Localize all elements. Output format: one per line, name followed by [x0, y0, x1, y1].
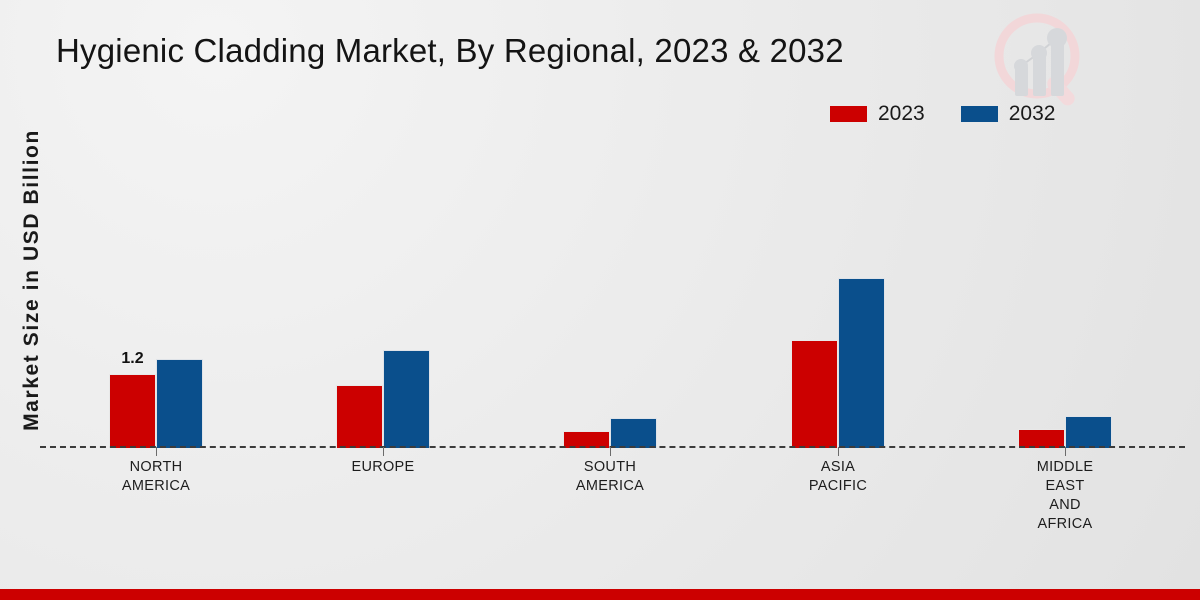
bar-group — [791, 122, 885, 448]
magnifier-bar-chart-logo-icon — [985, 8, 1105, 113]
x-axis-baseline — [40, 446, 1185, 448]
x-axis-label-line: ASIA — [738, 458, 938, 477]
bar-2032-europe[interactable] — [383, 350, 430, 448]
plot-area: 1.2 — [40, 120, 1185, 448]
x-axis-tick — [838, 447, 839, 456]
x-axis-label-line: AFRICA — [965, 515, 1165, 534]
footer-stripe — [0, 589, 1200, 600]
x-axis-label-europe: EUROPE — [283, 458, 483, 477]
x-axis-label-line: NORTH — [56, 458, 256, 477]
bar-2023-europe[interactable] — [336, 385, 383, 448]
x-axis-label-line: AND — [965, 496, 1165, 515]
bar-2032-north-america[interactable] — [156, 359, 203, 448]
x-axis-tick — [1065, 447, 1066, 456]
x-axis-label-line: PACIFIC — [738, 477, 938, 496]
bar-group — [336, 122, 430, 448]
x-axis-label-asia-pacific: ASIAPACIFIC — [738, 458, 938, 496]
bar-2032-middle-east-and-africa[interactable] — [1065, 416, 1112, 448]
chart-canvas: Hygienic Cladding Market, By Regional, 2… — [0, 0, 1200, 600]
x-axis-label-line: AMERICA — [510, 477, 710, 496]
x-axis-tick — [383, 447, 384, 456]
bar-2032-asia-pacific[interactable] — [838, 278, 885, 448]
bar-2023-north-america[interactable]: 1.2 — [109, 374, 156, 448]
bar-value-label: 1.2 — [121, 350, 143, 368]
bar-group — [1018, 122, 1112, 448]
x-axis-label-middle-east-and-africa: MIDDLEEASTANDAFRICA — [965, 458, 1165, 534]
bar-2032-south-america[interactable] — [610, 418, 657, 448]
x-axis-tick — [610, 447, 611, 456]
x-axis-label-line: MIDDLE — [965, 458, 1165, 477]
page-title: Hygienic Cladding Market, By Regional, 2… — [56, 32, 844, 70]
x-axis-label-line: EAST — [965, 477, 1165, 496]
bar-group: 1.2 — [109, 122, 203, 448]
x-axis-label-north-america: NORTHAMERICA — [56, 458, 256, 496]
bar-group — [563, 122, 657, 448]
x-axis-label-line: EUROPE — [283, 458, 483, 477]
x-axis-label-line: SOUTH — [510, 458, 710, 477]
x-axis-label-south-america: SOUTHAMERICA — [510, 458, 710, 496]
bar-2023-asia-pacific[interactable] — [791, 340, 838, 448]
x-axis-tick — [156, 447, 157, 456]
x-axis-label-line: AMERICA — [56, 477, 256, 496]
